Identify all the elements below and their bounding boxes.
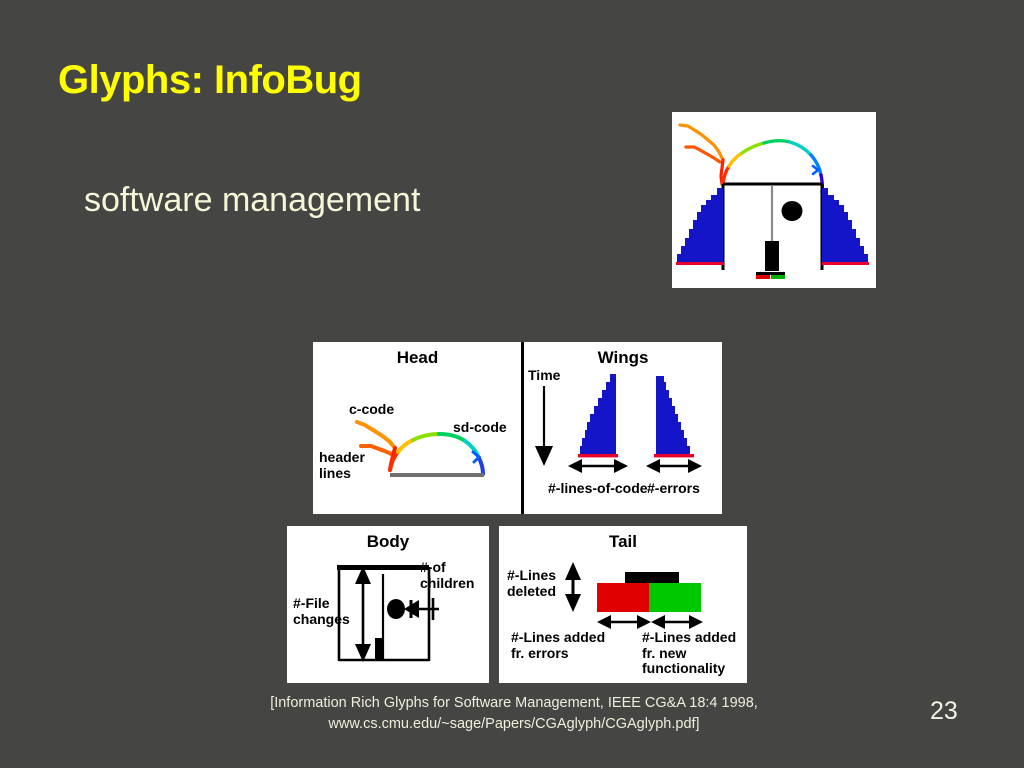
wings-errors-histogram bbox=[656, 376, 690, 454]
wings-left-width-arrow bbox=[568, 459, 628, 473]
tail-bar-icon bbox=[765, 241, 779, 271]
label-sd-code: sd-code bbox=[453, 420, 507, 436]
infobug-glyph-svg bbox=[672, 112, 876, 288]
slide-subtitle: software management bbox=[84, 181, 420, 220]
wings-left-baseline bbox=[578, 454, 618, 457]
citation-line-2: www.cs.cmu.edu/~sage/Papers/CGAglyph/CGA… bbox=[180, 714, 848, 735]
tail-cap-icon bbox=[756, 272, 785, 275]
body-block-icon bbox=[375, 638, 384, 661]
tail-green-bar bbox=[649, 583, 701, 612]
label-file-changes: #-File changes bbox=[293, 596, 350, 627]
panel-head-title: Head bbox=[313, 348, 522, 368]
tail-red-segment bbox=[756, 275, 770, 279]
tail-black-bar bbox=[625, 572, 679, 583]
tail-left-width-arrow bbox=[597, 615, 651, 629]
label-c-code: c-code bbox=[349, 402, 394, 418]
head-arc-icon bbox=[390, 434, 483, 474]
wings-right-width-arrow bbox=[646, 459, 702, 473]
label-time: Time bbox=[528, 368, 560, 384]
right-wing-baseline bbox=[822, 262, 869, 265]
tail-right-width-arrow bbox=[651, 615, 703, 629]
label-of-children: #-of children bbox=[420, 560, 474, 591]
page-title: Glyphs: InfoBug bbox=[58, 58, 362, 103]
legend-panel-tail: Tail #- bbox=[499, 526, 747, 683]
citation: [Information Rich Glyphs for Software Ma… bbox=[180, 693, 848, 735]
label-header-lines: header lines bbox=[319, 450, 365, 481]
infobug-glyph-image bbox=[672, 112, 876, 288]
panel-body-title: Body bbox=[287, 532, 489, 552]
label-lines-of-code: #-lines-of-code bbox=[548, 481, 648, 497]
page-number: 23 bbox=[930, 697, 958, 726]
lines-deleted-arrow-icon bbox=[565, 562, 581, 612]
label-added-from-new-functionality: #-Lines added fr. new functionality bbox=[642, 630, 736, 677]
panel-tail-title: Tail bbox=[499, 532, 747, 552]
tail-green-segment bbox=[771, 275, 785, 279]
wings-lines-of-code-histogram bbox=[580, 374, 616, 454]
body-dot-icon bbox=[782, 201, 803, 221]
wings-right-baseline bbox=[654, 454, 694, 457]
citation-line-1: [Information Rich Glyphs for Software Ma… bbox=[180, 693, 848, 714]
slide-canvas: Glyphs: InfoBug software management bbox=[0, 0, 1024, 768]
label-errors: #-errors bbox=[647, 481, 700, 497]
legend-panel-body: Body #-Fi bbox=[287, 526, 489, 683]
legend-panel-head: Head c-code header lines sd-code bbox=[313, 342, 522, 514]
panel-wings-title: Wings bbox=[524, 348, 722, 368]
tail-red-bar bbox=[597, 583, 649, 612]
label-added-from-errors: #-Lines added fr. errors bbox=[511, 630, 605, 661]
body-top-bar bbox=[337, 565, 429, 570]
file-changes-arrow-icon bbox=[355, 566, 371, 662]
left-wing-baseline bbox=[676, 262, 724, 265]
time-arrow-icon bbox=[535, 386, 553, 466]
head-antenna-header-icon bbox=[361, 446, 395, 456]
children-marker-icon bbox=[387, 598, 439, 620]
label-lines-deleted: #-Lines deleted bbox=[507, 568, 556, 599]
legend-panel-wings: Wings bbox=[524, 342, 722, 514]
